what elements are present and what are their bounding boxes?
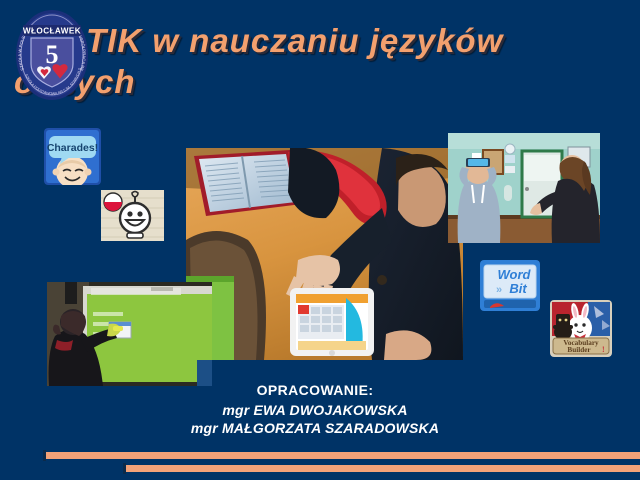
credits-heading: OPRACOWANIE: [150, 382, 480, 398]
slide-title-line-1: TIK w nauczaniu języków [86, 20, 626, 61]
polish-balloon-app-icon[interactable] [101, 190, 164, 241]
vocabulary-builder-app-icon-label-bottom: Builder [567, 346, 591, 354]
photo-tablet-lesson [186, 148, 463, 360]
photo-tablet-lesson-image [186, 148, 463, 360]
vocabulary-builder-app-icon-image: Vocabulary Builder ! [550, 300, 612, 357]
charades-app-icon-image: Charades! [44, 128, 101, 185]
school-crest-logo: SZKOŁA W POLSCE WSPÓŁPRACA REGION SZKOŁA… [14, 8, 90, 102]
svg-text:»: » [496, 284, 502, 296]
vocabulary-builder-app-icon[interactable]: Vocabulary Builder ! [550, 300, 612, 357]
wordbit-app-icon-label-bottom: Bit [509, 281, 527, 296]
wordbit-app-icon[interactable]: Word » Bit [480, 260, 540, 311]
slide-title-line-2: obcych [14, 61, 626, 102]
slide-title: TIK w nauczaniu języków obcych [86, 20, 626, 102]
presentation-slide: TIK w nauczaniu języków obcych SZKOŁA W … [0, 0, 640, 480]
charades-app-icon[interactable]: Charades! [44, 128, 101, 185]
polish-balloon-app-icon-image [101, 190, 164, 241]
credits-block: OPRACOWANIE: mgr EWA DWOJAKOWSKA mgr MAŁ… [150, 382, 480, 437]
credits-author-1: mgr EWA DWOJAKOWSKA [150, 401, 480, 419]
svg-text:!: ! [602, 345, 605, 354]
bottom-accent-bar-1-cap [43, 450, 46, 461]
photo-interactive-whiteboard-image [47, 282, 212, 386]
credits-author-2: mgr MAŁGORZATA SZARADOWSKA [150, 419, 480, 437]
charades-app-icon-label: Charades! [47, 142, 98, 154]
wordbit-app-icon-image: Word » Bit [480, 260, 540, 311]
crest-icon: SZKOŁA W POLSCE WSPÓŁPRACA REGION SZKOŁA… [14, 8, 90, 102]
photo-interactive-whiteboard [47, 282, 212, 386]
photo-charades-game [448, 133, 600, 243]
bottom-accent-bar-1 [43, 452, 640, 459]
bottom-accent-bar-2 [123, 465, 640, 472]
photo-charades-game-image [448, 133, 600, 243]
bottom-accent-bar-2-cap [123, 463, 126, 474]
wordbit-app-icon-label-top: Word [498, 267, 532, 282]
svg-text:WŁOCŁAWEK: WŁOCŁAWEK [23, 27, 81, 36]
